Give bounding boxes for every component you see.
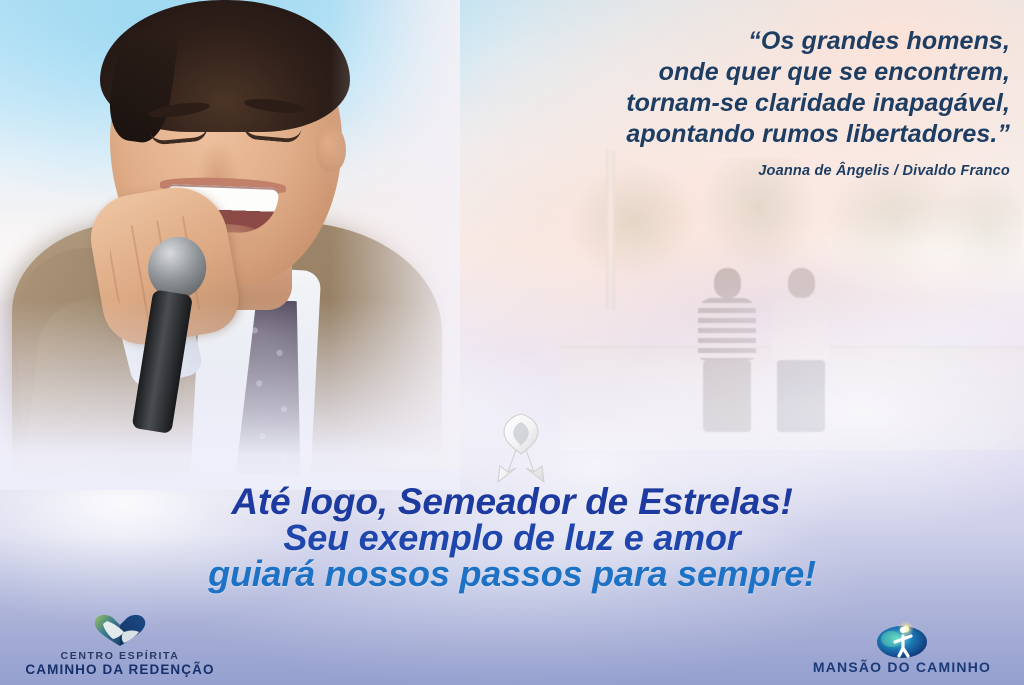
logo-left-line-2: CAMINHO DA REDENÇÃO	[10, 662, 230, 677]
logo-right-line-2: MANSÃO DO CAMINHO	[792, 659, 1012, 675]
globe-figure-icon	[792, 621, 1012, 657]
quote-line-4: apontando rumos libertadores.”	[450, 119, 1010, 150]
memorial-poster: “Os grandes homens, onde quer que se enc…	[0, 0, 1024, 685]
quote-line-3: tornam-se claridade inapagável,	[450, 88, 1010, 119]
quote-attribution: Joanna de Ângelis / Divaldo Franco	[450, 163, 1010, 179]
logo-left-line-1: CENTRO ESPÍRITA	[10, 650, 230, 662]
quote-line-1: “Os grandes homens,	[450, 26, 1010, 57]
heart-hands-icon	[10, 612, 230, 648]
hair-shape	[100, 0, 350, 132]
quote-line-2: onde quer que se encontrem,	[450, 57, 1010, 88]
portrait-right-fade	[330, 0, 460, 470]
portrait-photo	[0, 0, 440, 470]
logo-mansao-do-caminho: MANSÃO DO CAMINHO	[792, 621, 1012, 675]
logo-centro-espirita: CENTRO ESPÍRITA CAMINHO DA REDENÇÃO	[10, 612, 230, 677]
headline-block: Até logo, Semeador de Estrelas! Seu exem…	[0, 484, 1024, 592]
white-awareness-ribbon-icon	[486, 410, 556, 488]
headline-line-3: guiará nossos passos para sempre!	[0, 556, 1024, 592]
headline-line-2: Seu exemplo de luz e amor	[0, 520, 1024, 556]
headline-line-1: Até logo, Semeador de Estrelas!	[0, 484, 1024, 520]
quote-block: “Os grandes homens, onde quer que se enc…	[450, 26, 1010, 179]
